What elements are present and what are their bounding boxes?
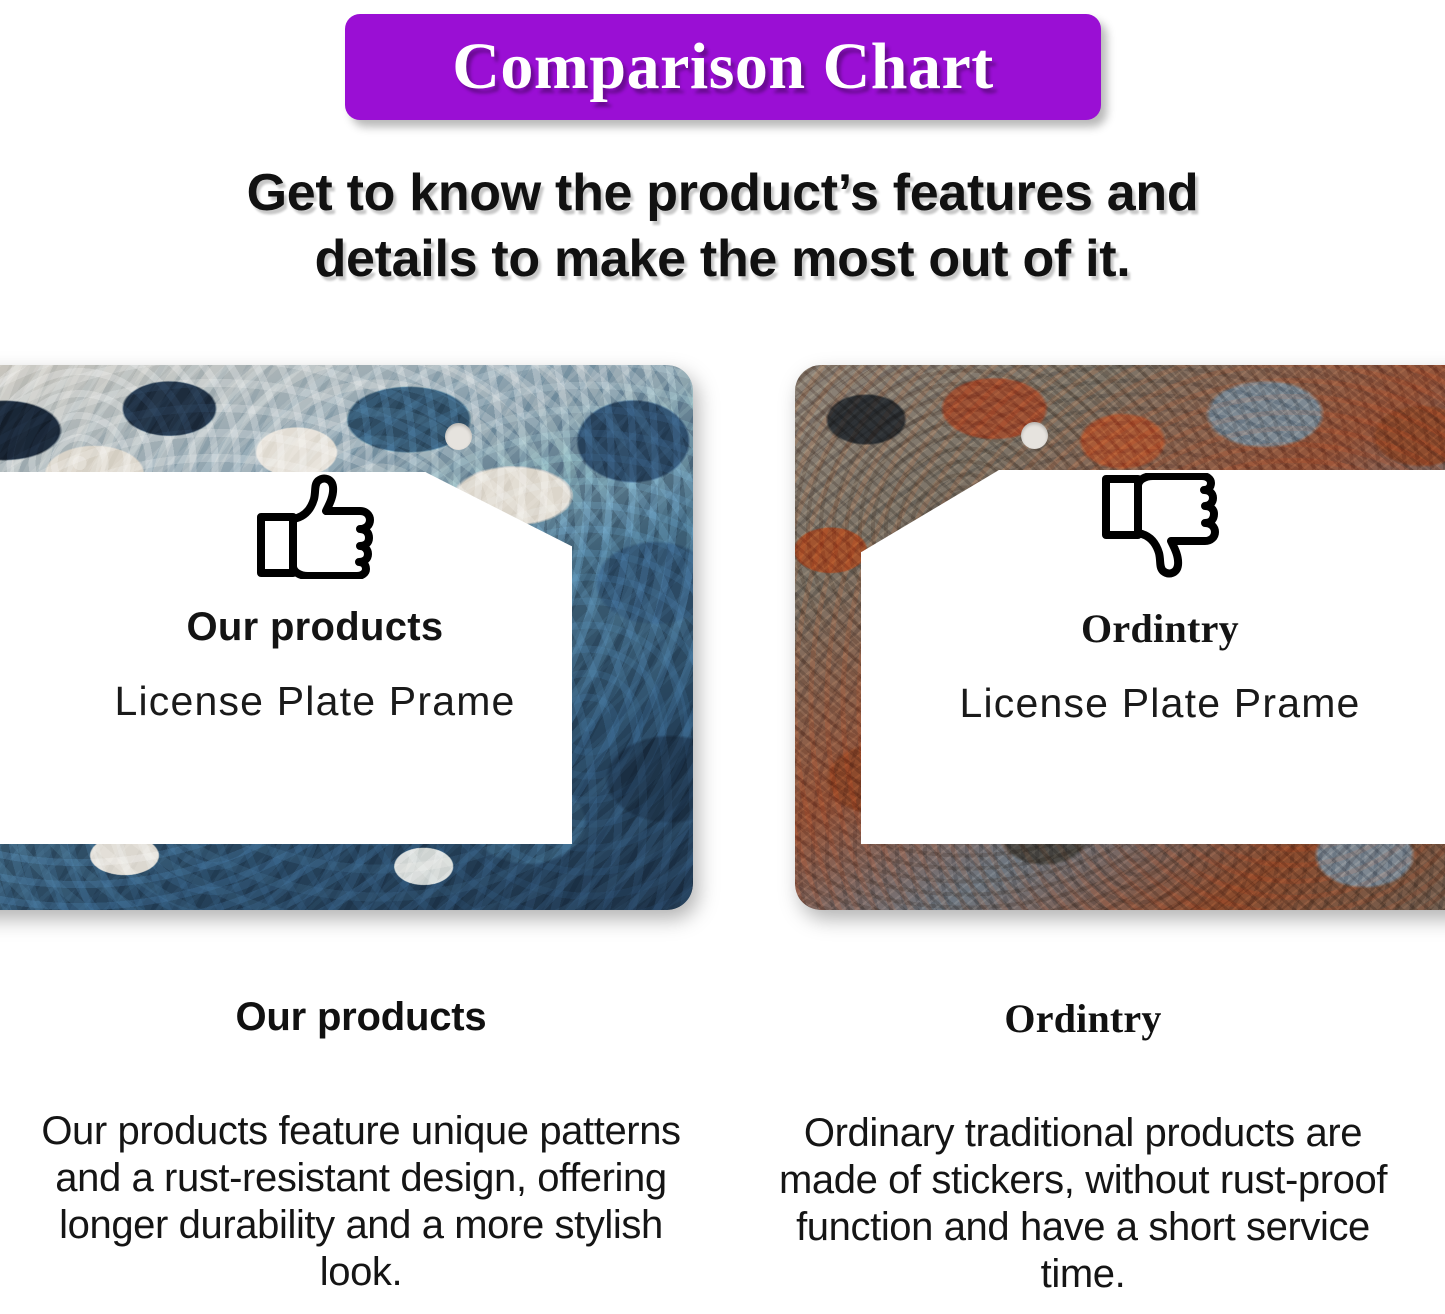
comparison-chart-banner: Comparison Chart	[345, 14, 1101, 120]
ordinary-product-plate-label: License Plate Prame	[959, 680, 1360, 727]
ordinary-product-column-body: Ordinary traditional products are made o…	[750, 1110, 1416, 1298]
ordinary-product-brand-label: Ordintry	[1081, 605, 1239, 652]
our-product-brand-label: Our products	[187, 605, 444, 650]
mounting-hole	[445, 423, 472, 450]
comparison-description-row: Our products Our products feature unique…	[0, 995, 1445, 1298]
subtitle-line-1: Get to know the product’s features and	[0, 160, 1445, 226]
our-product-plate-label: License Plate Prame	[114, 678, 515, 725]
page-subtitle: Get to know the product’s features and d…	[0, 160, 1445, 292]
ordinary-product-column-title: Ordintry	[750, 995, 1416, 1042]
mounting-hole	[1021, 422, 1048, 449]
our-product-description-column: Our products Our products feature unique…	[0, 995, 722, 1298]
ordinary-product-description-column: Ordintry Ordinary traditional products a…	[722, 995, 1444, 1298]
our-product-plate-content: Our products License Plate Prame	[100, 473, 530, 725]
thumbs-down-icon	[1101, 473, 1219, 579]
thumbs-up-icon	[256, 473, 374, 579]
our-product-column-title: Our products	[28, 995, 694, 1040]
our-product-column-body: Our products feature unique patterns and…	[28, 1108, 694, 1296]
product-frames-area: Our products License Plate Prame Ordintr…	[0, 355, 1445, 925]
page-title: Comparison Chart	[452, 29, 994, 105]
subtitle-line-2: details to make the most out of it.	[0, 226, 1445, 292]
ordinary-product-plate-content: Ordintry License Plate Prame	[910, 473, 1410, 727]
